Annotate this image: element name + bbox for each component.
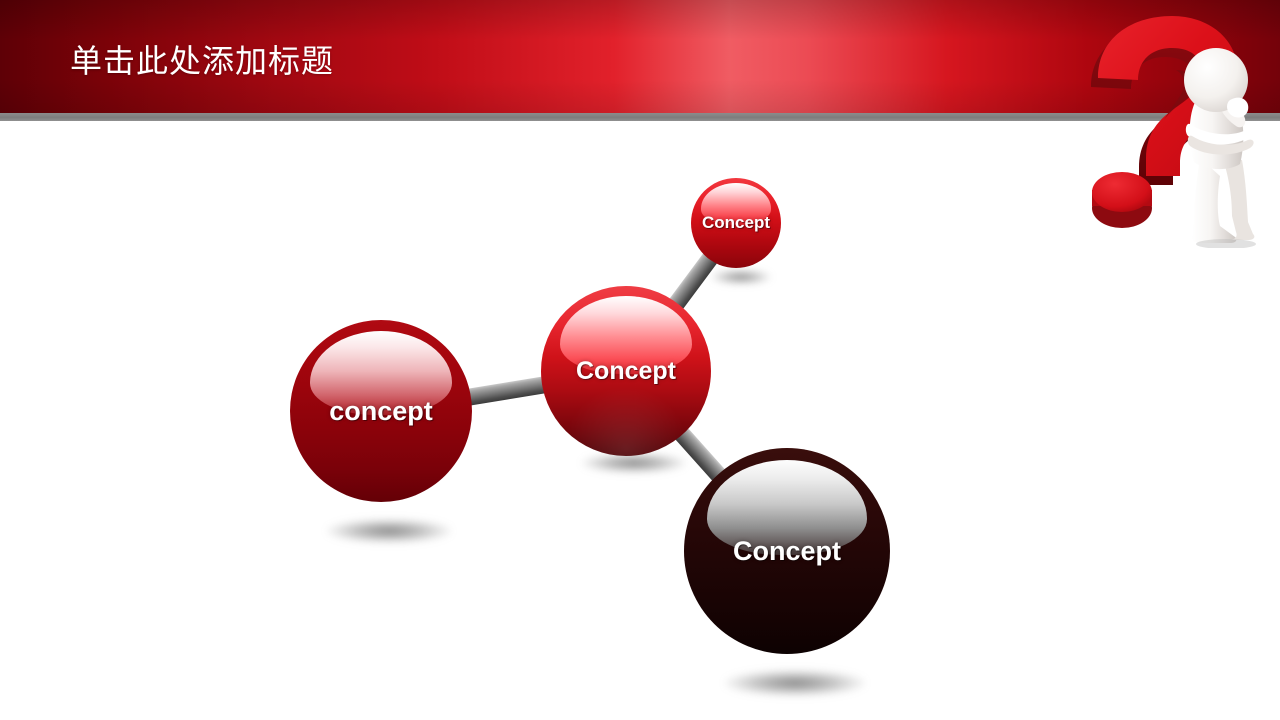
concept-node-top-label: Concept [702,213,770,233]
slide-canvas: 单击此处添加标题 [0,0,1280,720]
concept-node-top[interactable]: Concept [691,178,781,268]
concept-node-left[interactable]: concept [290,320,472,502]
concept-node-center[interactable]: Concept [541,286,711,456]
question-mark-3d-icon [1080,8,1280,248]
shadow-dark [725,670,865,696]
thinking-person-3d-icon [1184,48,1256,248]
page-title[interactable]: 单击此处添加标题 [70,40,334,82]
concept-node-dark[interactable]: Concept [684,448,890,654]
shadow-center [582,453,686,473]
shadow-top [711,270,771,284]
shadow-left [327,519,451,543]
question-mark-graphic [1080,8,1280,248]
concept-node-dark-label: Concept [733,536,841,567]
concept-node-left-label: concept [329,396,433,427]
question-dot-top [1092,172,1152,212]
concept-node-center-label: Concept [576,357,676,386]
